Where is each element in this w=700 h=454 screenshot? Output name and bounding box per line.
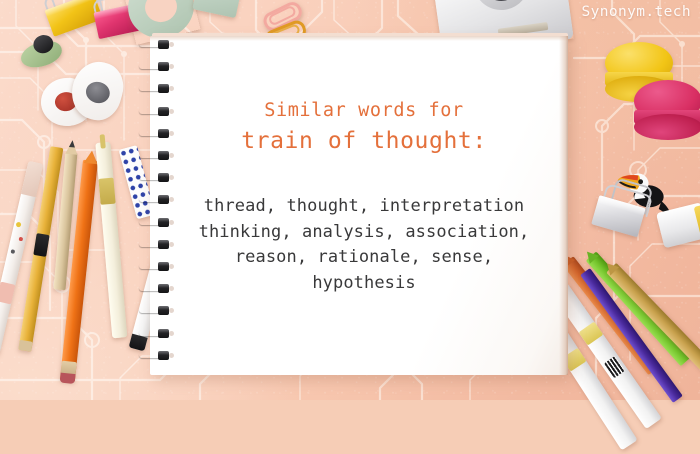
notebook: Similar words for train of thought: thre… [150,36,568,375]
heading-term: train of thought: [178,128,550,154]
spiral-ring [139,306,179,315]
spiral-ring [139,262,179,271]
page-content: Similar words for train of thought: thre… [178,36,550,375]
spiral-ring [139,62,179,71]
desk-background: Similar words for train of thought: thre… [0,0,700,400]
spiral-ring [139,173,179,182]
synonym-line: reason, rationale, sense, [172,245,556,271]
spiral-ring [139,329,179,338]
spiral-ring [139,240,179,249]
spiral-ring [139,351,179,360]
spiral-ring [139,84,179,93]
spiral-ring [139,40,179,49]
synonym-line: hypothesis [172,271,556,297]
site-watermark: Synonym.tech [581,4,691,20]
macaron-pink [634,80,700,142]
synonym-line: thinking, analysis, association, [172,220,556,246]
heading-line-1: Similar words for [178,100,550,121]
spiral-ring [139,218,179,227]
spiral-ring [139,107,179,116]
spiral-ring [139,151,179,160]
page-right-fold [559,36,568,375]
spiral-binding [139,32,185,379]
notebook-page: Similar words for train of thought: thre… [150,36,568,375]
spiral-ring [139,284,179,293]
synonym-line: thread, thought, interpretation [172,194,556,220]
spiral-ring [139,195,179,204]
spiral-ring [139,129,179,138]
synonyms-list: thread, thought, interpretation thinking… [172,194,556,296]
